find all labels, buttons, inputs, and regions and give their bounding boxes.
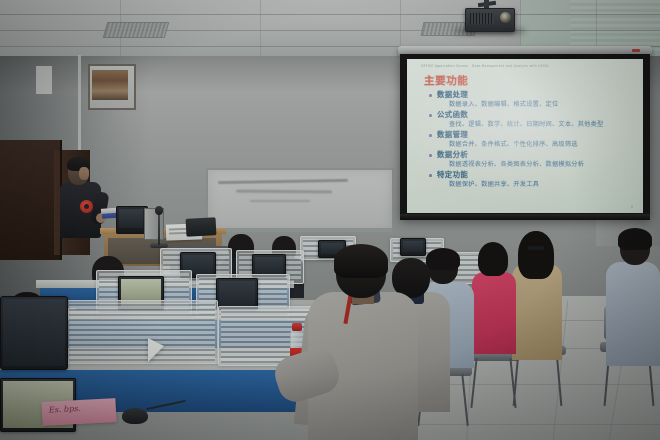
monitor (0, 296, 68, 370)
shirt-logo-inner (84, 204, 89, 209)
foreground-man-hair (334, 244, 388, 278)
wall-notice (36, 66, 52, 94)
monitor-screen (3, 299, 65, 366)
classroom-photograph: OFFICE Application Course · Data Managem… (0, 0, 660, 440)
screen-light-glow (407, 59, 643, 213)
desk-label-note: Es. bps. (41, 398, 116, 426)
microphone-icon (155, 206, 163, 215)
glasses-icon (528, 246, 544, 250)
ceiling-seam (0, 30, 660, 31)
whiteboard-writing (250, 200, 310, 202)
attendee-hair (426, 248, 460, 270)
attendee-hair (518, 231, 554, 279)
projection-screen-weight-bar (400, 214, 650, 220)
monitor-screen (255, 257, 283, 274)
attendee-body (472, 272, 516, 354)
ceiling-grid-line (260, 0, 261, 58)
divider-glass (69, 303, 215, 361)
attendee-hair (478, 242, 508, 276)
ceiling-panel-texture (570, 0, 660, 52)
ceiling-seam (0, 14, 660, 15)
attendee-hair (618, 228, 652, 250)
folded-paper (148, 338, 164, 362)
attendee-body (606, 262, 660, 366)
monitor-screen (403, 241, 423, 252)
instructor-face (79, 167, 89, 180)
chair-leg (556, 352, 563, 406)
screen-case-marker (632, 49, 640, 52)
projector-lens-icon (500, 12, 511, 23)
microphone-stem (158, 212, 160, 245)
desk-label-text: Es. bps. (49, 404, 81, 415)
podium-monitor-screen (119, 209, 143, 228)
cabinet (0, 140, 62, 260)
chair-leg (513, 352, 520, 406)
bottle-cap (292, 323, 302, 331)
monitor (400, 238, 426, 256)
wall-picture-image (92, 70, 128, 100)
whiteboard-tray (204, 228, 392, 232)
ceiling-vent-icon (103, 22, 170, 38)
projector-vent-icon (470, 13, 494, 24)
monitor-screen (219, 281, 255, 306)
computer-mouse (122, 408, 148, 424)
podium-laptop (186, 217, 217, 237)
cubicle-divider (66, 300, 218, 364)
